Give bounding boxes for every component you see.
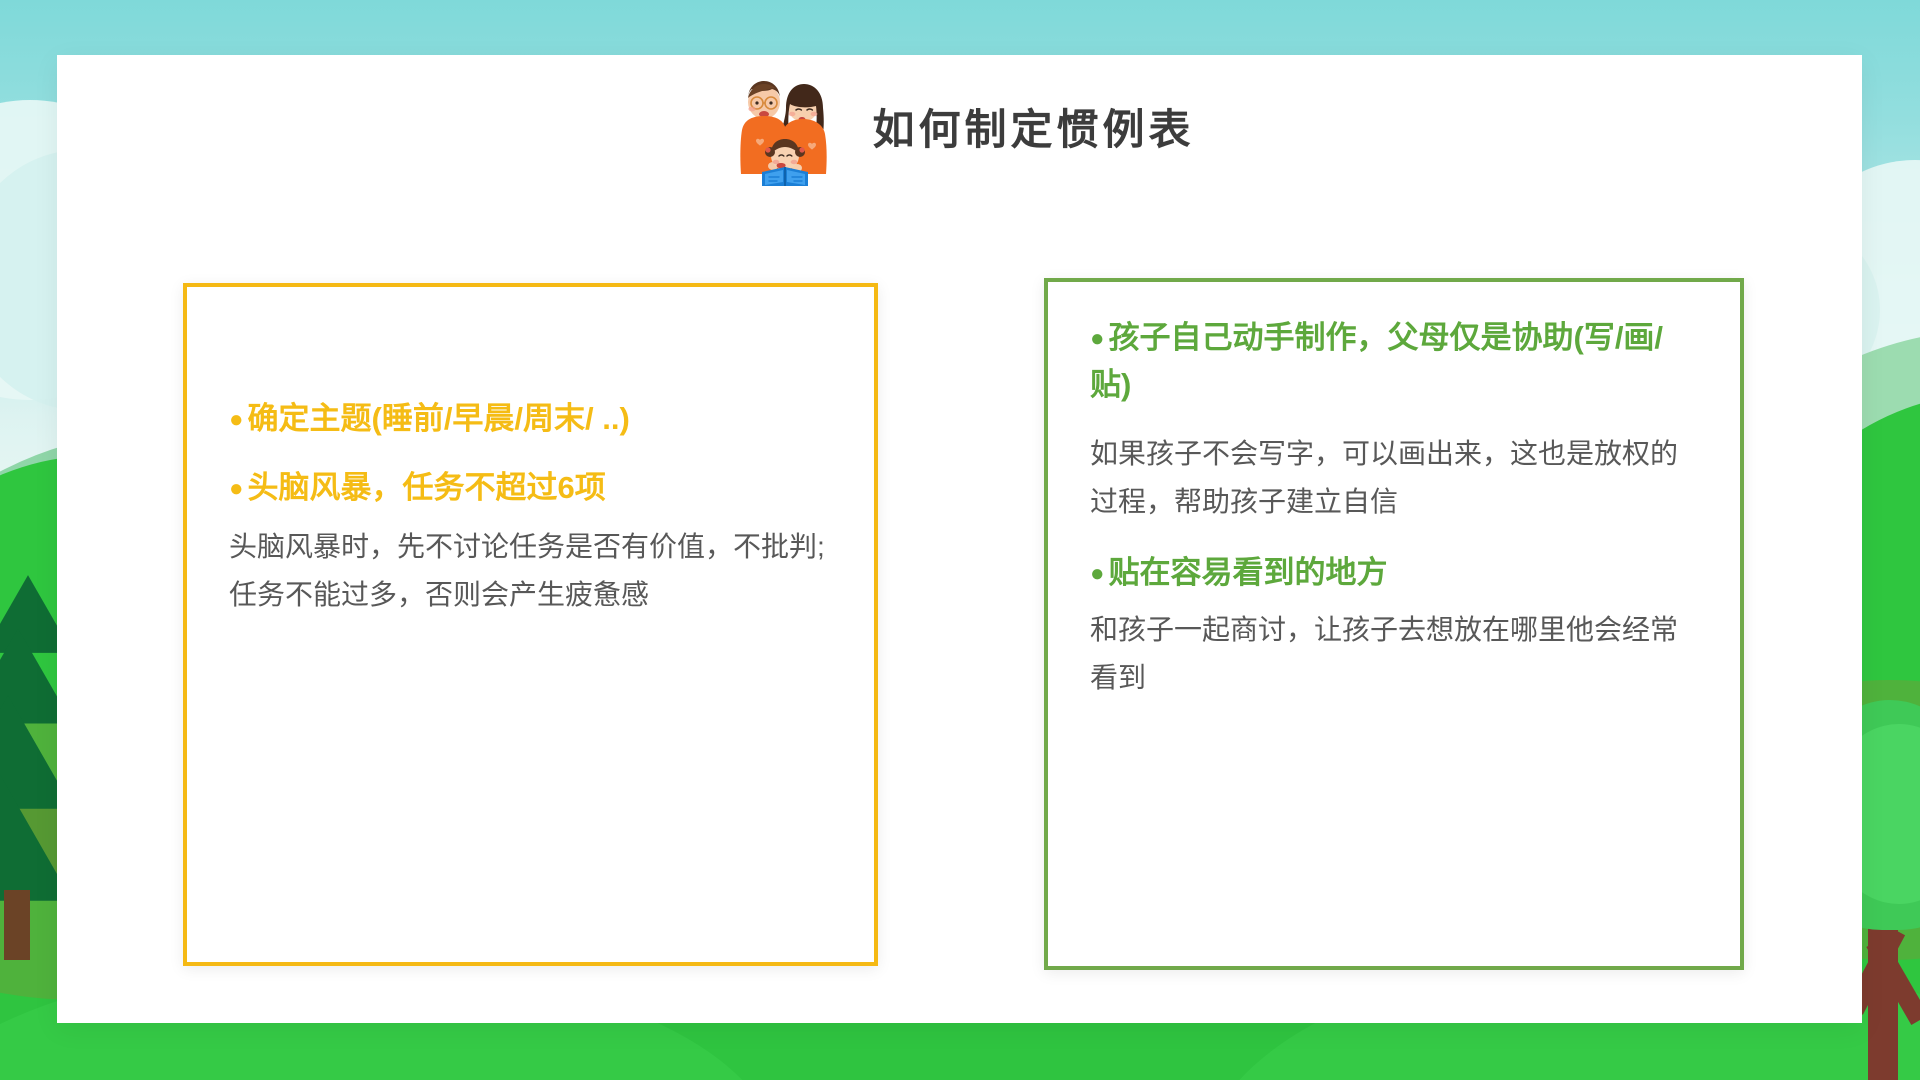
bullet-item: 贴在容易看到的地方 bbox=[1090, 549, 1698, 596]
card-left-determine-theme: 确定主题(睡前/早晨/周末/ ..) 头脑风暴，任务不超过6项 头脑风暴时，先不… bbox=[183, 283, 878, 966]
card-right-content: 孩子自己动手制作，父母仅是协助(写/画/贴) 如果孩子不会写字，可以画出来，这也… bbox=[1048, 282, 1740, 764]
family-reading-illustration bbox=[724, 74, 848, 186]
bullet-item: 确定主题(睡前/早晨/周末/ ..) bbox=[229, 395, 832, 442]
content-panel: 如何制定惯例表 确定主题(睡前/早晨/周末/ ..) 头脑风暴，任务不超过6项 … bbox=[57, 55, 1862, 1023]
body-paragraph: 和孩子一起商讨，让孩子去想放在哪里他会经常看到 bbox=[1090, 606, 1698, 702]
card-right-child-makes-it: 孩子自己动手制作，父母仅是协助(写/画/贴) 如果孩子不会写字，可以画出来，这也… bbox=[1044, 278, 1744, 970]
card-left-content: 确定主题(睡前/早晨/周末/ ..) 头脑风暴，任务不超过6项 头脑风暴时，先不… bbox=[187, 287, 874, 682]
page-header: 如何制定惯例表 bbox=[57, 55, 1862, 205]
page-title: 如何制定惯例表 bbox=[872, 109, 1194, 151]
bullet-item: 孩子自己动手制作，父母仅是协助(写/画/贴) bbox=[1090, 314, 1698, 408]
body-paragraph: 头脑风暴时，先不讨论任务是否有价值，不批判;任务不能过多，否则会产生疲惫感 bbox=[229, 523, 832, 619]
body-paragraph: 如果孩子不会写字，可以画出来，这也是放权的过程，帮助孩子建立自信 bbox=[1090, 430, 1698, 526]
bullet-item: 头脑风暴，任务不超过6项 bbox=[229, 464, 832, 511]
